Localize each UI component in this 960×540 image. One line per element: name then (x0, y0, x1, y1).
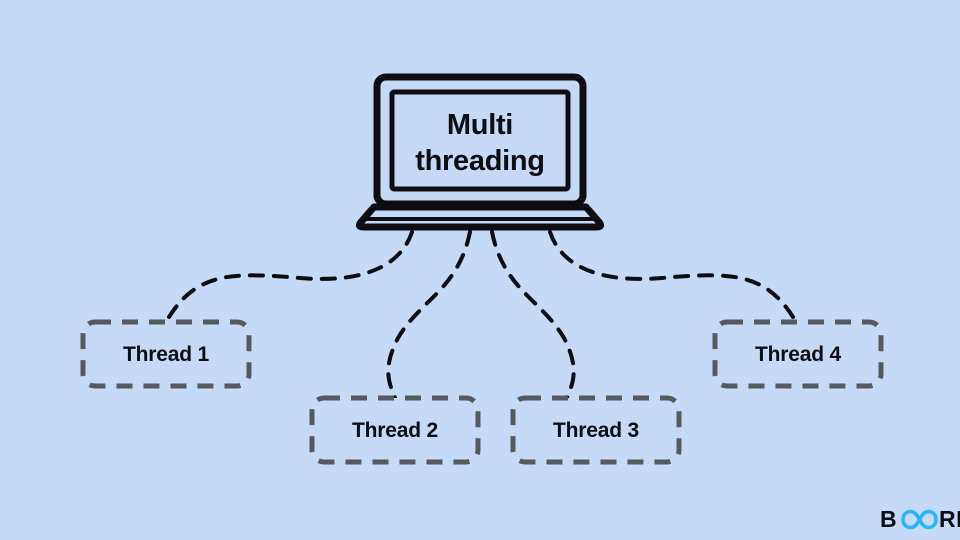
thread-label-4: Thread 4 (755, 343, 841, 366)
thread-label-2: Thread 2 (352, 419, 438, 442)
multithreading-diagram: Multi threading Thread 1 Thread 2 Thread… (0, 0, 960, 540)
logo-suffix: RD (939, 506, 960, 532)
laptop-screen-title-line2: threading (415, 145, 544, 177)
thread-label-3: Thread 3 (553, 419, 639, 442)
thread-node-1[interactable]: Thread 1 (83, 322, 249, 386)
thread-node-2[interactable]: Thread 2 (312, 398, 478, 462)
thread-node-3[interactable]: Thread 3 (513, 398, 679, 462)
thread-node-4[interactable]: Thread 4 (715, 322, 881, 386)
logo-prefix: B (880, 506, 897, 532)
laptop-node[interactable]: Multi threading (359, 77, 600, 227)
laptop-screen-title-line1: Multi (447, 109, 513, 141)
diagram-canvas: Multi threading Thread 1 Thread 2 Thread… (0, 0, 960, 540)
thread-label-1: Thread 1 (123, 343, 209, 366)
